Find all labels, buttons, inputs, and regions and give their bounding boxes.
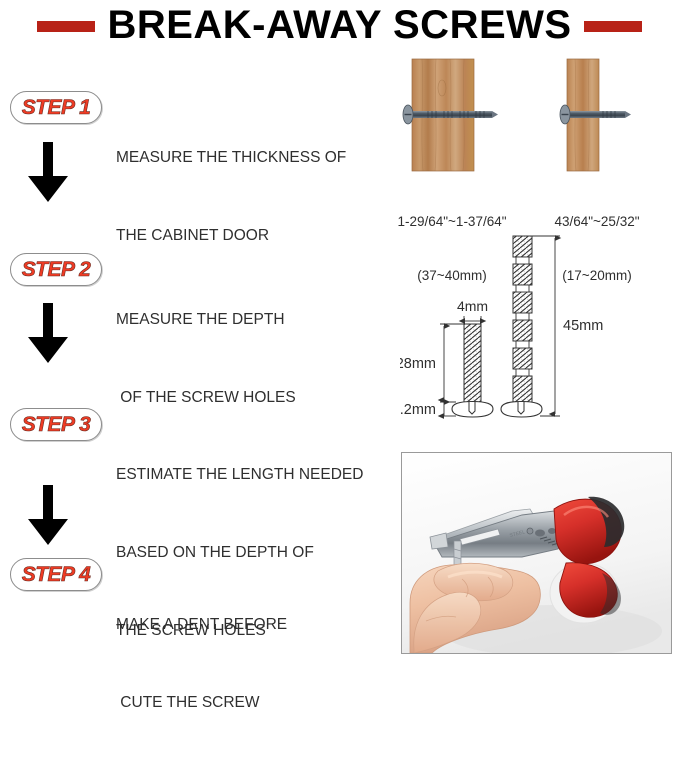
page-title-bar: BREAK-AWAY SCREWS	[0, 0, 679, 50]
short-screw-drawing	[452, 324, 493, 417]
arrow-step-2-to-3	[25, 303, 71, 365]
pliers-photo-frame: STEEL	[401, 452, 672, 654]
thick-plank-illustration	[398, 55, 506, 173]
dimension-4mm-label: 4mm	[457, 298, 488, 314]
step-badge-3: STEP 3	[10, 408, 102, 441]
dimension-28mm	[440, 324, 466, 402]
dimension-28mm-label: 28mm	[400, 356, 436, 372]
page-title: BREAK-AWAY SCREWS	[107, 5, 571, 45]
step-badge-2: STEP 2	[10, 253, 102, 286]
step-badge-4: STEP 4	[10, 558, 102, 591]
title-dash-right-icon	[584, 21, 642, 32]
step-1-line-2: THE CABINET DOOR	[116, 223, 346, 249]
pliers-denting-screw-photo: STEEL	[402, 453, 671, 653]
step-4-line-2: CUTE THE SCREW	[116, 690, 287, 716]
dimension-2-2mm-value: 2.2mm	[400, 402, 436, 418]
wood-thickness-figure: 1-29/64"~1-37/64" (37~40mm) 43/64"~25/32…	[360, 55, 679, 220]
screw-dimension-drawing: 4mm 28mm 2.2mm	[400, 228, 679, 440]
title-dash-left-icon	[37, 21, 95, 32]
arrow-step-3-to-4	[25, 485, 71, 547]
step-1-line-1: MEASURE THE THICKNESS OF	[116, 145, 346, 171]
long-screw-drawing	[501, 236, 542, 417]
step-badge-3-label: STEP 3	[22, 414, 91, 435]
screw-dimension-figure: 4mm 28mm 2.2mm	[400, 228, 679, 440]
step-badge-1-label: STEP 1	[22, 97, 91, 118]
step-badge-4-label: STEP 4	[22, 564, 91, 585]
step-row-4: STEP 4 MAKE A DENT BEFORE CUTE THE SCREW	[10, 558, 287, 768]
step-badge-1: STEP 1	[10, 91, 102, 124]
arrow-step-1-to-2	[25, 142, 71, 204]
thin-plank-illustration	[545, 55, 653, 173]
step-badge-2-label: STEP 2	[22, 259, 91, 280]
step-2-line-1: MEASURE THE DEPTH	[116, 307, 296, 333]
step-4-text: MAKE A DENT BEFORE CUTE THE SCREW	[116, 558, 287, 768]
step-3-line-1: ESTIMATE THE LENGTH NEEDED	[116, 462, 363, 488]
dimension-45mm	[530, 236, 560, 416]
step-4-line-1: MAKE A DENT BEFORE	[116, 612, 287, 638]
dimension-45mm-label: 45mm	[563, 318, 603, 334]
